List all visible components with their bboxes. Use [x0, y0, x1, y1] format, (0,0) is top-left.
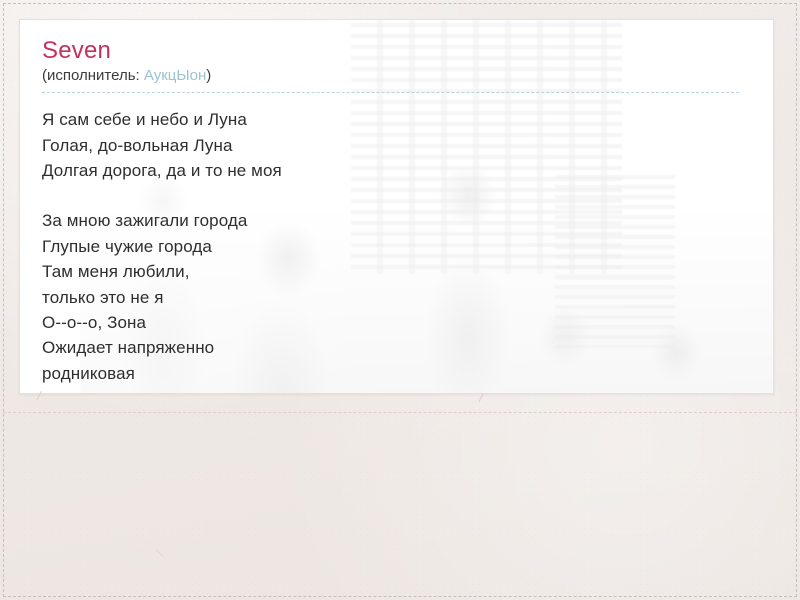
lyric-line: Голая, до-вольная Луна — [42, 133, 747, 158]
lyric-line: Я сам себе и небо и Луна — [42, 107, 747, 132]
slide-subtitle: (исполнитель: АукцЫон) — [42, 66, 747, 86]
lyric-line: О--о--о, Зона — [42, 310, 747, 335]
lyric-line: Ожидает напряженно — [42, 335, 747, 360]
title-divider — [42, 92, 739, 93]
subtitle-prefix: (исполнитель: — [42, 67, 144, 84]
page-under-rule — [3, 412, 797, 413]
lyric-line: Там меня любили, — [42, 259, 747, 284]
lyrics-block: Я сам себе и небо и Луна Голая, до-вольн… — [42, 107, 747, 386]
lyric-line: только это не я — [42, 285, 747, 310]
lyric-line: Долгая дорога, да и то не моя — [42, 158, 747, 183]
artist-link[interactable]: АукцЫон — [144, 67, 206, 84]
slide-title: Seven — [42, 38, 747, 64]
registration-tick-right — [478, 393, 492, 407]
lyric-line-blank — [42, 183, 747, 208]
lyric-line: Глупые чужие города — [42, 234, 747, 259]
lyric-line: родниковая — [42, 361, 747, 386]
registration-tick-lower — [156, 543, 171, 558]
presentation-slide[interactable]: Seven (исполнитель: АукцЫон) Я сам себе … — [19, 19, 774, 394]
subtitle-suffix: ) — [206, 67, 211, 84]
slide-content: Seven (исполнитель: АукцЫон) Я сам себе … — [20, 20, 773, 386]
page-root: Seven (исполнитель: АукцЫон) Я сам себе … — [0, 0, 800, 600]
lyric-line: За мною зажигали города — [42, 208, 747, 233]
